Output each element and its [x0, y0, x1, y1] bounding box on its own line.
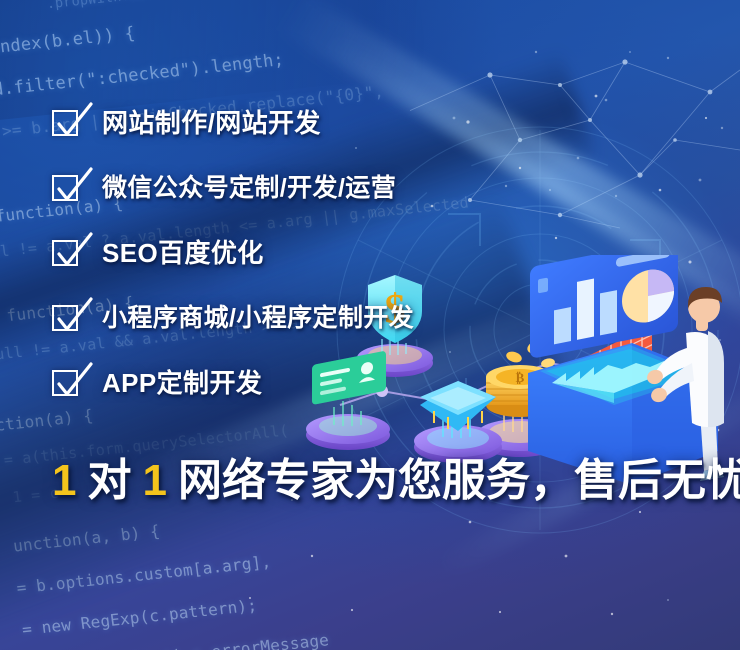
- headline: 1 对 1 网络专家为您服务，售后无忧！: [50, 450, 740, 512]
- list-item[interactable]: 小程序商城/小程序定制开发: [52, 295, 672, 341]
- service-label: APP定制开发: [102, 368, 262, 398]
- promo-banner: .propWithToolsInAll("input[type=checkbox…: [0, 0, 740, 650]
- service-label: 微信公众号定制/开发/运营: [102, 173, 396, 203]
- checkbox-checked-icon[interactable]: [52, 368, 82, 398]
- checkbox-checked-icon[interactable]: [52, 108, 82, 138]
- headline-tail: 网络专家为您服务，售后无忧！: [178, 453, 740, 509]
- list-item[interactable]: APP定制开发: [52, 360, 672, 406]
- list-item[interactable]: 网站制作/网站开发: [52, 100, 672, 146]
- code-line: .propWithToolsInAll("input[type=checkbox…: [46, 0, 404, 12]
- service-list: 网站制作/网站开发 微信公众号定制/开发/运营 SEO百度优化: [52, 100, 672, 425]
- headline-number-second: 1: [140, 453, 168, 509]
- code-line: d.test(a.val) || c.errorMessage: [24, 630, 330, 650]
- code-line: = b.options.custom[a.arg],: [15, 552, 272, 598]
- service-label: 网站制作/网站开发: [102, 108, 321, 138]
- code-line: unction(a, b) {: [12, 521, 161, 555]
- service-label: 小程序商城/小程序定制开发: [102, 303, 414, 333]
- checkbox-checked-icon[interactable]: [52, 238, 82, 268]
- code-line: e = d.filter(":checked").length;: [0, 50, 285, 105]
- headline-mid-word: 对: [87, 453, 131, 509]
- code-line: = d.index(b.el)) {: [0, 23, 136, 62]
- code-line: = new RegExp(c.pattern);: [21, 596, 258, 640]
- list-item[interactable]: 微信公众号定制/开发/运营: [52, 165, 672, 211]
- checkbox-checked-icon[interactable]: [52, 173, 82, 203]
- headline-number-first: 1: [50, 453, 78, 509]
- service-label: SEO百度优化: [102, 238, 264, 268]
- list-item[interactable]: SEO百度优化: [52, 230, 672, 276]
- checkbox-checked-icon[interactable]: [52, 303, 82, 333]
